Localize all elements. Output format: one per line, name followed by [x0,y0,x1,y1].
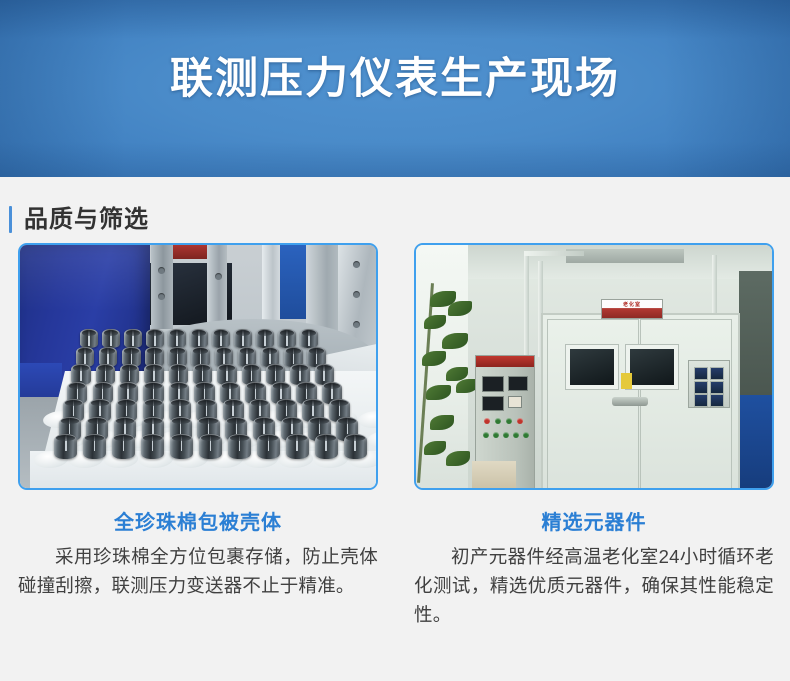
photo-frame-foam-packed-housings[interactable] [18,243,378,490]
foam-packed-housings-photo [20,245,376,488]
aging-chamber-room-photo: 老化室 [416,245,772,488]
metal-housing-grid [46,327,376,437]
caption-quality-packaging: 全珍珠棉包被壳体 采用珍珠棉全方位包裹存储，防止壳体碰撞刮擦，联测压力变送器不止… [18,490,378,600]
section-title: 品质与筛选 [24,206,149,233]
caption-body: 初产元器件经高温老化室24小时循环老化测试，精选优质元器件，确保其性能稳定性。 [414,542,774,629]
banner-title: 联测压力仪表生产现场 [0,58,790,101]
section-accent-bar [9,206,12,233]
card-component-selection: 老化室 [414,243,774,629]
section-header: 品质与筛选 [0,177,790,243]
aging-room-sign-text: 老化室 [602,301,662,308]
card-quality-packaging: 全珍珠棉包被壳体 采用珍珠棉全方位包裹存储，防止壳体碰撞刮擦，联测压力变送器不止… [18,243,378,629]
caption-title: 全珍珠棉包被壳体 [18,510,378,536]
aging-room-sign: 老化室 [601,299,663,319]
wall-meter-box [688,360,730,408]
caption-title: 精选元器件 [414,510,774,536]
page-header-banner: 联测压力仪表生产现场 [0,0,790,177]
caption-component-selection: 精选元器件 初产元器件经高温老化室24小时循环老化测试，精选优质元器件，确保其性… [414,490,774,629]
caption-body: 采用珍珠棉全方位包裹存储，防止壳体碰撞刮擦，联测压力变送器不止于精准。 [18,542,378,600]
photo-frame-aging-chamber-room[interactable]: 老化室 [414,243,774,490]
card-grid: 全珍珠棉包被壳体 采用珍珠棉全方位包裹存储，防止壳体碰撞刮擦，联测压力变送器不止… [0,243,790,629]
